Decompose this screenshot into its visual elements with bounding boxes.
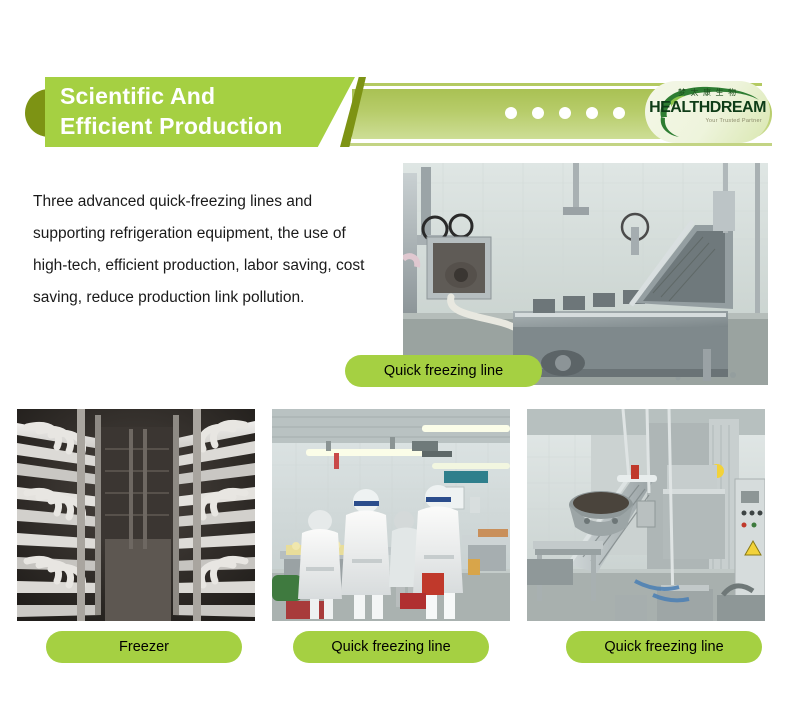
header-banner: Scientific And Efficient Production 梦 太 … xyxy=(0,33,790,138)
caption-quick-freezing-line-top: Quick freezing line xyxy=(345,355,542,387)
caption-quick-freezing-line-right: Quick freezing line xyxy=(566,631,762,663)
caption-quick-freezing-line-middle: Quick freezing line xyxy=(293,631,489,663)
caption-freezer: Freezer xyxy=(46,631,242,663)
logo-chinese-name: 梦 太 康 生 物 xyxy=(645,87,770,98)
banner-dot xyxy=(613,107,625,119)
page-title: Scientific And Efficient Production xyxy=(60,81,360,141)
banner-dot-group xyxy=(505,103,635,125)
banner-dot xyxy=(586,107,598,119)
photo-freezer xyxy=(17,409,255,621)
photo-conveyor-freezing-tunnel xyxy=(527,409,765,621)
photo-quick-freezing-line-main xyxy=(403,163,768,385)
banner-ribbon-bottom-line xyxy=(348,143,772,146)
banner-dot xyxy=(532,107,544,119)
company-logo: 梦 太 康 生 物 HEALTHDREAM Your Trusted Partn… xyxy=(645,81,770,143)
logo-tagline: Your Trusted Partner xyxy=(645,118,770,124)
banner-dot xyxy=(559,107,571,119)
photo-workers-processing-line xyxy=(272,409,510,621)
banner-dot xyxy=(505,107,517,119)
logo-brand-name: HEALTHDREAM xyxy=(645,99,770,117)
description-paragraph: Three advanced quick-freezing lines and … xyxy=(33,186,383,314)
